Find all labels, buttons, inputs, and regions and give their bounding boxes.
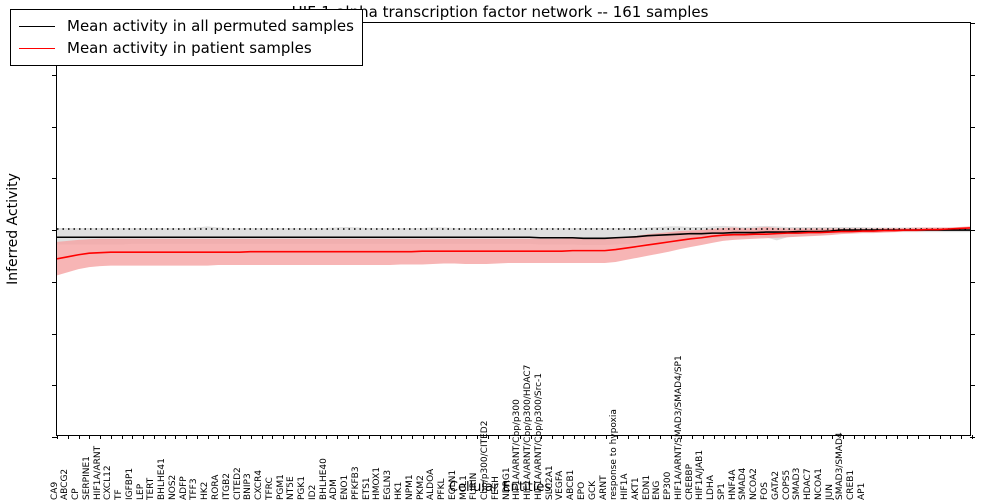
plot-area [57, 23, 970, 435]
figure: HIF-1-alpha transcription factor network… [0, 0, 1000, 500]
y-tick-mark [52, 282, 57, 283]
legend: Mean activity in all permuted samples Me… [10, 9, 363, 66]
legend-label-permuted: Mean activity in all permuted samples [67, 17, 354, 35]
y-tick-mark [52, 178, 57, 179]
plot-svg [57, 23, 970, 435]
legend-entry-permuted: Mean activity in all permuted samples [19, 15, 354, 37]
y-tick-mark-right [970, 75, 975, 76]
y-tick-mark [52, 127, 57, 128]
y-tick-mark-right [970, 334, 975, 335]
legend-line-permuted [19, 26, 55, 27]
y-tick-mark-right [970, 282, 975, 283]
plot-axes: Inferred Activity 43210−1−2−3−4 [56, 22, 971, 436]
y-tick-mark-right [970, 127, 975, 128]
legend-label-patient: Mean activity in patient samples [67, 39, 312, 57]
legend-line-patient [19, 48, 55, 49]
y-tick-mark [52, 334, 57, 335]
y-tick-mark [52, 75, 57, 76]
y-tick-mark-right [970, 178, 975, 179]
legend-entry-patient: Mean activity in patient samples [19, 37, 354, 59]
y-axis-label: Inferred Activity [5, 173, 21, 285]
y-tick-mark-right [970, 385, 975, 386]
y-tick-mark [52, 385, 57, 386]
x-tick-mark [972, 435, 973, 439]
y-tick-mark-right [970, 23, 975, 24]
x-tick-label: HIF1A/ARNT/SMAD3/SMAD4/SP1 [675, 355, 684, 500]
y-tick-mark [52, 230, 57, 231]
x-axis-label: Cellular Entities [0, 480, 1000, 495]
y-tick-mark-right [970, 230, 975, 231]
